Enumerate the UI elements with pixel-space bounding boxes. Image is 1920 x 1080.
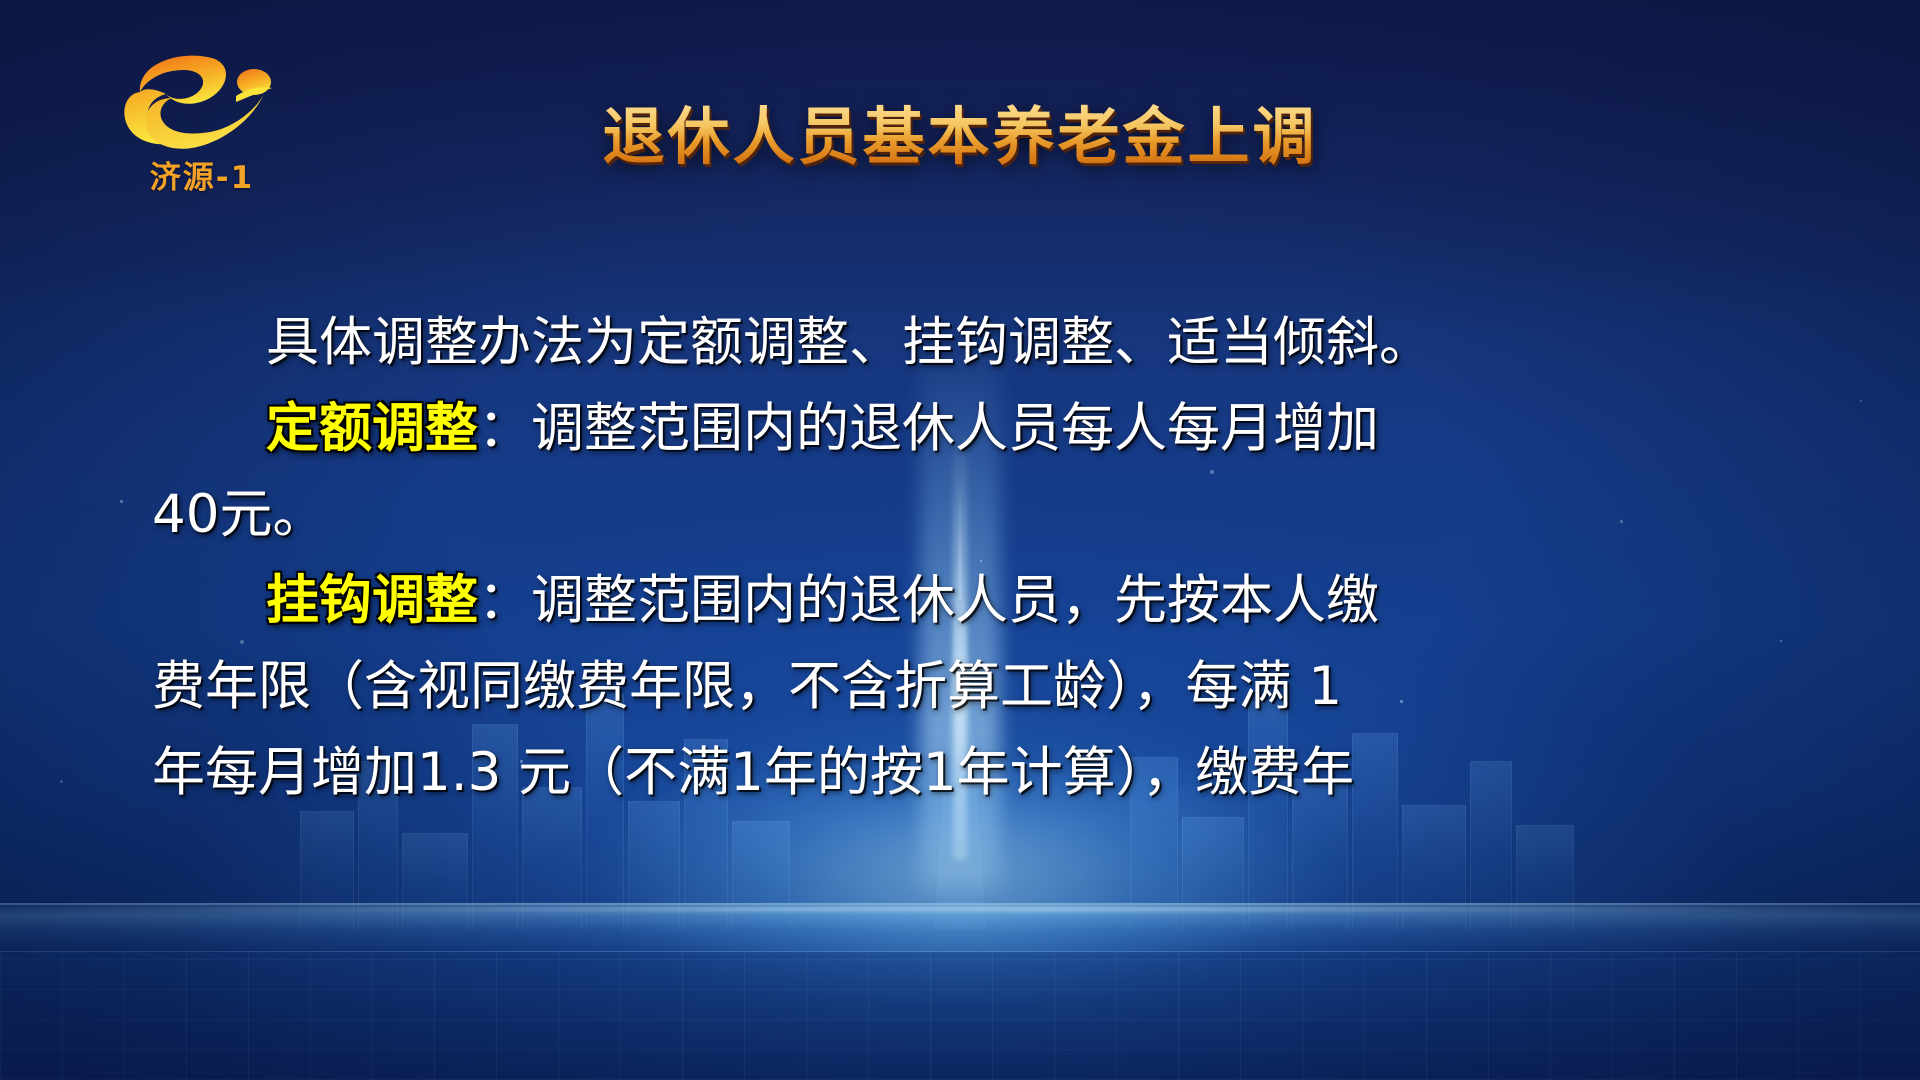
page-title: 退休人员基本养老金上调 (0, 86, 1920, 176)
body-line: 挂钩调整：调整范围内的退休人员，先按本人缴 (152, 558, 1414, 644)
body-paragraph: 具体调整办法为定额调整、挂钩调整、适当倾斜。定额调整：调整范围内的退休人员每人每… (152, 300, 1414, 816)
body-line: 费年限（含视同缴费年限，不含折算工龄），每满 1 (152, 644, 1414, 730)
body-line: 具体调整办法为定额调整、挂钩调整、适当倾斜。 (152, 300, 1414, 386)
body-line: 定额调整：调整范围内的退休人员每人每月增加 (152, 386, 1414, 472)
body-text-run: 费年限（含视同缴费年限，不含折算工龄），每满 1 (152, 656, 1342, 717)
body-text-run: 40元。 (152, 484, 325, 545)
broadcast-graphic-stage: 济源-1 退休人员基本养老金上调 具体调整办法为定额调整、挂钩调整、适当倾斜。定… (0, 0, 1920, 1080)
body-text-run: 具体调整办法为定额调整、挂钩调整、适当倾斜。 (266, 312, 1432, 373)
body-text-run: 年每月增加1.3 元（不满1年的按1年计算），缴费年 (152, 742, 1354, 803)
body-line: 40元。 (152, 472, 1414, 558)
highlighted-term: 定额调整 (266, 398, 478, 459)
body-text-run: ：调整范围内的退休人员每人每月增加 (478, 398, 1379, 459)
body-line: 年每月增加1.3 元（不满1年的按1年计算），缴费年 (152, 730, 1414, 816)
body-text-run: ：调整范围内的退休人员，先按本人缴 (478, 570, 1379, 631)
highlighted-term: 挂钩调整 (266, 570, 478, 631)
